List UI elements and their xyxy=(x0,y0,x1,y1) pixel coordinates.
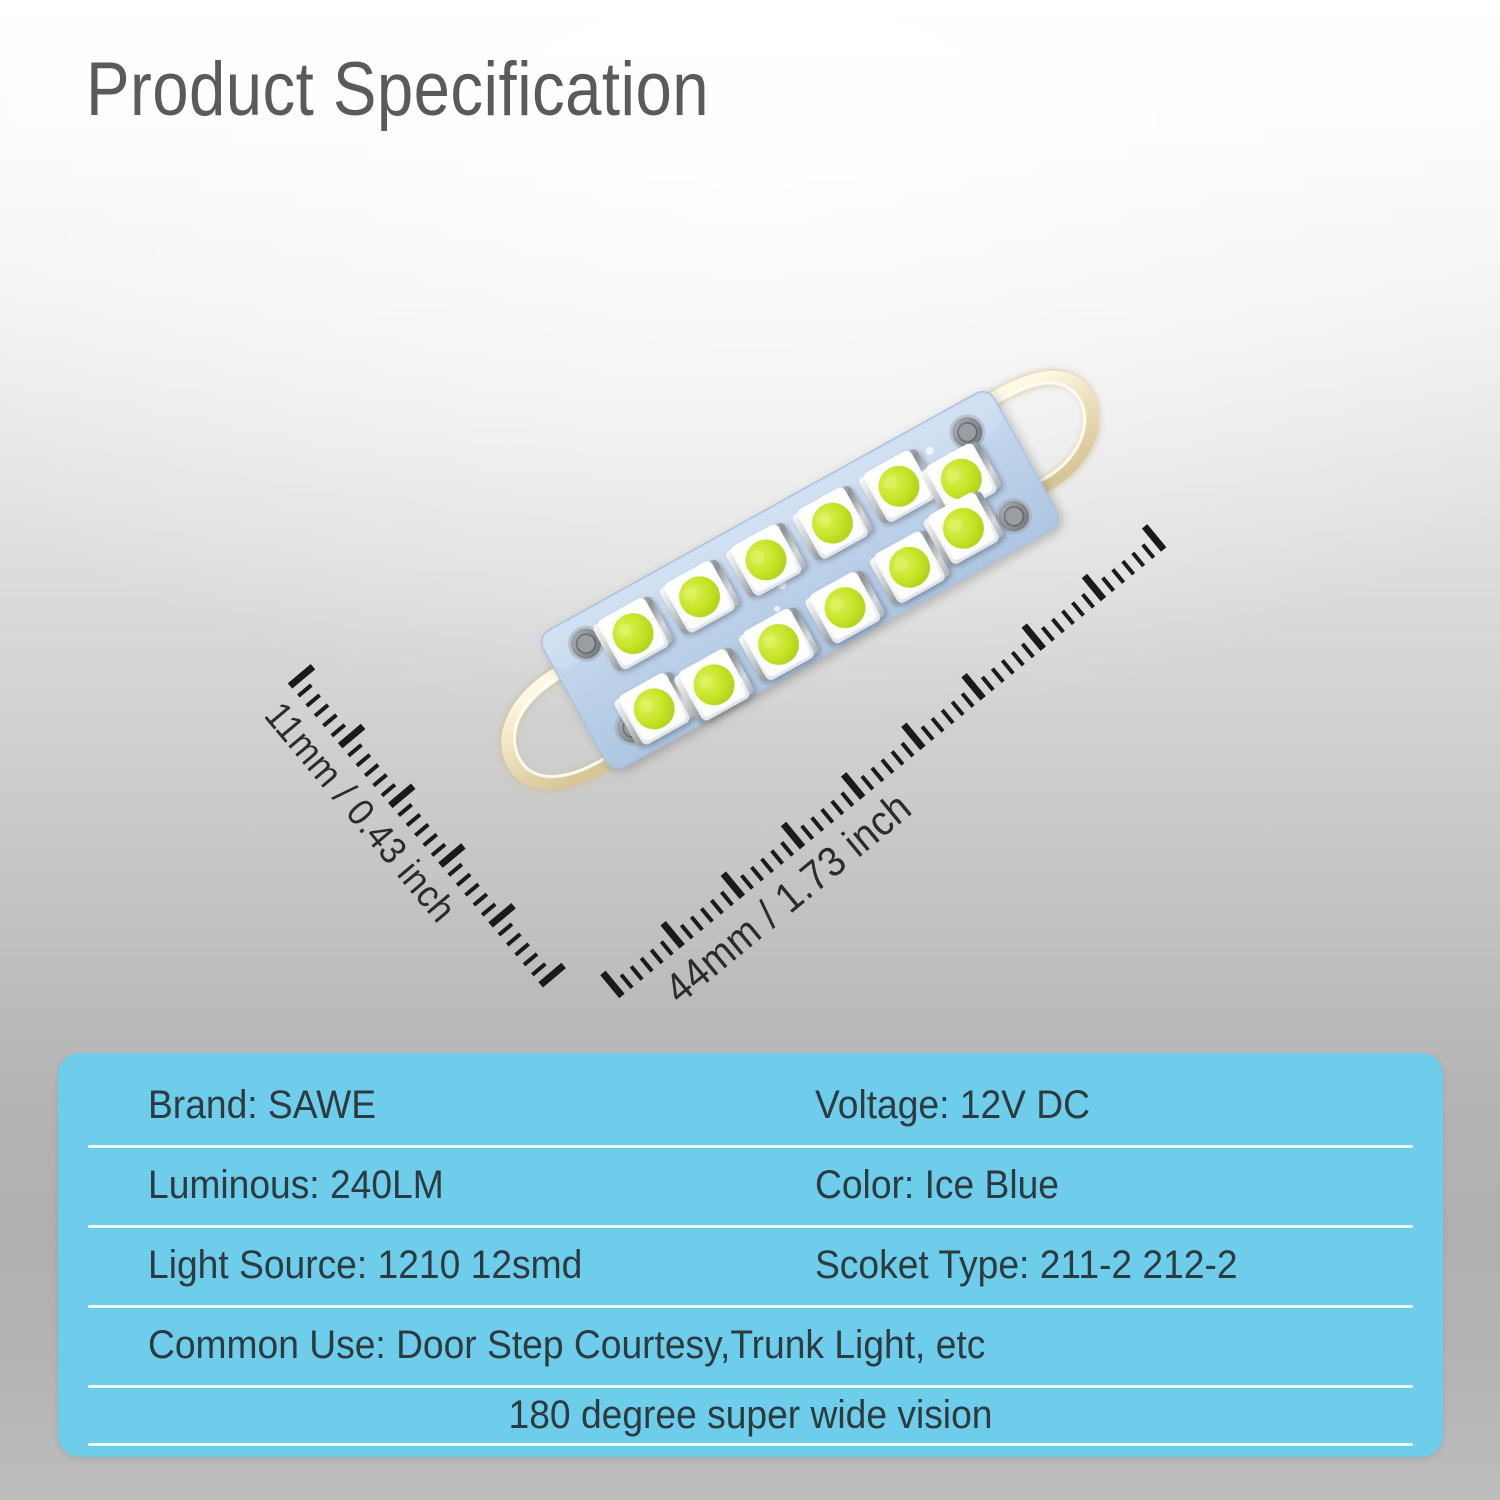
spec-light-source: Light Source: 1210 12smd xyxy=(148,1229,582,1301)
product-image-festoon-led-bulb xyxy=(440,250,1160,890)
spec-wide-vision: 180 degree super wide vision xyxy=(106,1379,1394,1451)
spec-row: Luminous: 240LM Color: Ice Blue xyxy=(58,1149,1443,1221)
spec-voltage: Voltage: 12V DC xyxy=(815,1069,1090,1141)
product-specification-page: Product Specification xyxy=(0,0,1500,1500)
specification-panel: Brand: SAWE Voltage: 12V DC Luminous: 24… xyxy=(58,1053,1443,1457)
spec-row: Light Source: 1210 12smd Scoket Type: 21… xyxy=(58,1229,1443,1301)
spec-brand: Brand: SAWE xyxy=(148,1069,376,1141)
spec-row: 180 degree super wide vision xyxy=(58,1379,1443,1451)
led-circuit-board xyxy=(537,387,1064,774)
spec-divider xyxy=(88,1225,1413,1228)
spec-common-use: Common Use: Door Step Courtesy,Trunk Lig… xyxy=(148,1309,985,1381)
spec-divider xyxy=(88,1305,1413,1308)
spec-row: Common Use: Door Step Courtesy,Trunk Lig… xyxy=(58,1309,1443,1381)
spec-divider xyxy=(88,1443,1413,1446)
spec-luminous: Luminous: 240LM xyxy=(148,1149,444,1221)
spec-divider xyxy=(88,1145,1413,1148)
spec-color: Color: Ice Blue xyxy=(815,1149,1059,1221)
spec-socket-type: Scoket Type: 211-2 212-2 xyxy=(815,1229,1238,1301)
spec-row: Brand: SAWE Voltage: 12V DC xyxy=(58,1069,1443,1141)
page-title: Product Specification xyxy=(86,48,709,132)
